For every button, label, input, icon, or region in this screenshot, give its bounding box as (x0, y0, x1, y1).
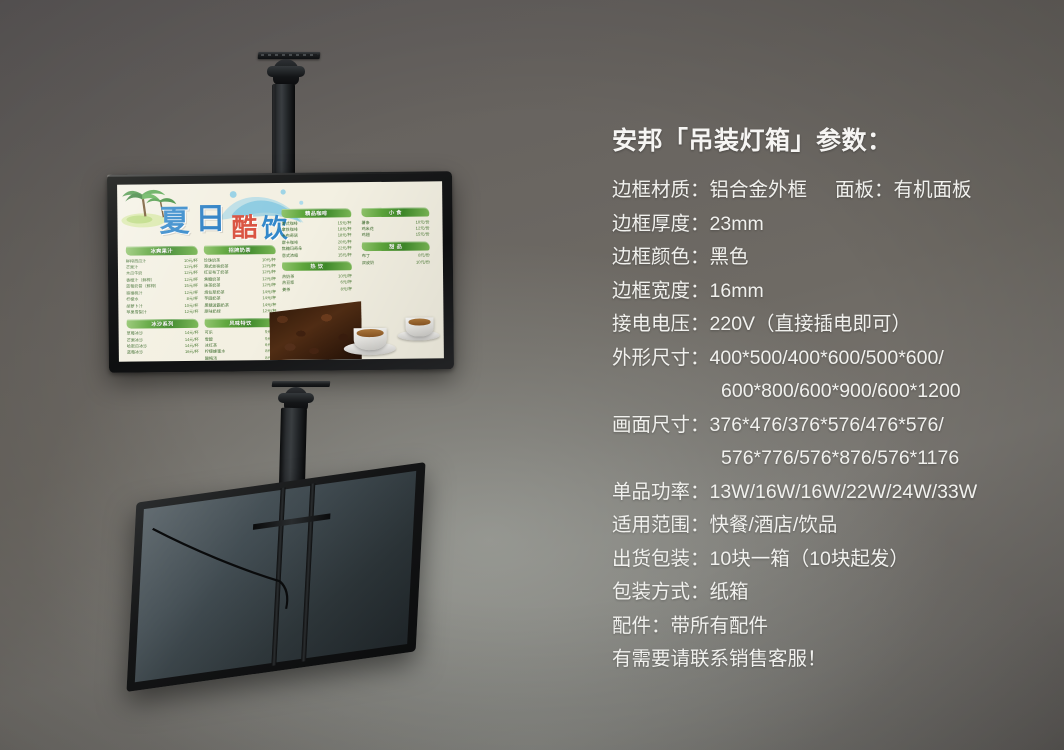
spec-label: 出货包装： (612, 550, 710, 570)
product-photo: 夏 日 酷 饮 冰爽果汁鲜榨西瓜汁10元/杯芒果汁12元/杯木瓜牛奶12元/杯香… (0, 0, 640, 750)
spec-footer-note: 有需要请联系销售客服！ (612, 650, 1042, 670)
spec-title: 安邦「吊装灯箱」参数： (612, 126, 1042, 156)
menu-section-heading: 热 饮 (282, 261, 353, 271)
menu-section-heading-text: 甜 品 (389, 243, 402, 250)
menu-item-row: 苹果雪梨汁12元/杯 (126, 309, 198, 316)
menu-item-name: 原味奶绿 (204, 309, 220, 316)
menu-item-price: 15元/杯 (334, 252, 352, 259)
menu-section-heading-text: 冰沙系列 (151, 320, 173, 327)
menu-item-row: 蓝莓冰沙16元/杯 (127, 349, 199, 356)
menu-section: 冰爽果汁鲜榨西瓜汁10元/杯芒果汁12元/杯木瓜牛奶12元/杯香橙汁（鲜榨）12… (126, 246, 199, 316)
spec-line: 出货包装：10块一箱（10块起发） (612, 550, 1042, 570)
spec-value: 铝合金外框 (710, 181, 808, 201)
menu-section-heading: 冰爽果汁 (125, 246, 198, 256)
menu-section: 热 饮热奶茶10元/杯热豆浆6元/杯姜茶8元/杯 (282, 261, 352, 293)
menu-column-2: 招牌奶茶珍珠奶茶10元/杯港式丝袜奶茶12元/杯红豆布丁奶茶12元/杯焦糖奶茶1… (204, 245, 277, 362)
spec-value: 快餐/酒店/饮品 (710, 516, 838, 536)
spec-line: 接电电压：220V（直接插电即可） (612, 315, 1042, 335)
menu-item-price: 10元/份 (412, 259, 430, 266)
menu-section-heading: 风味特饮 (204, 318, 277, 328)
mount-pole-top (272, 84, 295, 182)
menu-item-row: 原味奶绿12元/杯 (204, 308, 276, 315)
spec-panel: 安邦「吊装灯箱」参数： 边框材质：铝合金外框面板：有机面板边框厚度：23mm边框… (612, 126, 1042, 684)
menu-item-price: 12元/杯 (180, 309, 198, 316)
menu-section-heading: 甜 品 (361, 241, 430, 251)
menu-item-row: 双皮奶10元/份 (362, 259, 430, 266)
spec-line: 画面尺寸：376*476/376*576/476*576/ (612, 416, 1042, 436)
spec-label-secondary: 面板： (835, 181, 894, 201)
spec-line: 边框宽度：16mm (612, 282, 1042, 302)
power-cable (126, 462, 425, 692)
menu-column-4: 小 食薯条10元/份鸡米花12元/份鸡翅15元/份 甜 品布丁8元/份双皮奶10… (361, 207, 430, 269)
menu-item-row: 意式浓缩15元/杯 (282, 252, 352, 259)
menu-section-heading: 精品咖啡 (281, 208, 352, 218)
spec-label: 包装方式： (612, 583, 710, 603)
coffee-cup-main (354, 328, 387, 350)
menu-section: 冰沙系列草莓冰沙14元/杯芒果冰沙14元/杯哈密瓜冰沙14元/杯蓝莓冰沙16元/… (126, 318, 198, 356)
menu-section-heading-text: 风味特饮 (229, 319, 251, 326)
menu-item-price: 16元/杯 (181, 349, 199, 356)
spec-label: 边框厚度： (612, 215, 710, 235)
spec-label: 外形尺寸： (612, 349, 710, 369)
spec-line: 单品功率：13W/16W/16W/22W/24W/33W (612, 483, 1042, 503)
menu-title-char-1: 夏 (159, 196, 189, 240)
menu-item-row: 鸡翅15元/份 (362, 232, 430, 239)
spec-value: 220V（直接插电即可） (710, 315, 912, 335)
spec-line: 边框颜色：黑色 (612, 248, 1042, 268)
menu-column-3: 精品咖啡美式咖啡15元/杯拿铁咖啡18元/杯卡布奇诺18元/杯摩卡咖啡20元/杯… (281, 208, 352, 296)
menu-section: 甜 品布丁8元/份双皮奶10元/份 (362, 241, 430, 266)
spec-value: 黑色 (710, 248, 749, 268)
menu-panel: 夏 日 酷 饮 冰爽果汁鲜榨西瓜汁10元/杯芒果汁12元/杯木瓜牛奶12元/杯香… (117, 181, 444, 361)
spec-value: 23mm (710, 215, 764, 235)
menu-title-char-3: 酷 (231, 207, 257, 244)
menu-column-1: 冰爽果汁鲜榨西瓜汁10元/杯芒果汁12元/杯木瓜牛奶12元/杯香橙汁（鲜榨）12… (126, 246, 199, 360)
spec-line: 配件：带所有配件 (612, 617, 1042, 637)
spec-label: 边框颜色： (612, 248, 710, 268)
spec-footer-text: 有需要请联系销售客服！ (612, 650, 827, 670)
menu-section-heading-text: 招牌奶茶 (229, 246, 251, 253)
spec-label: 接电电压： (612, 315, 710, 335)
spec-label: 画面尺寸： (612, 416, 710, 436)
menu-section-heading-text: 精品咖啡 (305, 210, 327, 217)
menu-section: 小 食薯条10元/份鸡米花12元/份鸡翅15元/份 (361, 207, 429, 239)
menu-section-heading: 冰沙系列 (126, 318, 199, 328)
menu-section-heading-text: 热 饮 (310, 263, 323, 270)
menu-section-heading-text: 冰爽果汁 (151, 247, 173, 254)
spec-value: 带所有配件 (671, 617, 769, 637)
spec-line-continuation: 600*800/600*900/600*1200 (612, 382, 1042, 402)
spec-value: 纸箱 (710, 583, 749, 603)
menu-item-price: 15元/份 (412, 232, 430, 239)
spec-label: 配件： (612, 617, 671, 637)
spec-line: 边框厚度：23mm (612, 215, 1042, 235)
menu-item-name: 姜茶 (282, 287, 290, 294)
spec-label: 单品功率： (612, 483, 710, 503)
spec-value: 600*800/600*900/600*1200 (721, 382, 961, 402)
spec-label: 适用范围： (612, 516, 710, 536)
lightbox-back-unit (126, 462, 425, 692)
spec-value-secondary: 有机面板 (894, 181, 972, 201)
mount-plate-middle-icon (272, 381, 331, 387)
spec-line-continuation: 576*776/576*876/576*1176 (612, 449, 1042, 469)
coffee-crema (357, 329, 383, 337)
spec-value: 10块一箱（10块起发） (710, 550, 909, 570)
ceiling-mount-plate-icon (258, 52, 321, 59)
menu-item-price: 8元/杯 (337, 286, 353, 293)
spec-label: 边框材质： (612, 181, 710, 201)
menu-item-name: 蓝莓冰沙 (127, 350, 143, 357)
menu-section-heading: 小 食 (361, 207, 430, 217)
coffee-crema-back (408, 319, 430, 326)
menu-section: 精品咖啡美式咖啡15元/杯拿铁咖啡18元/杯卡布奇诺18元/杯摩卡咖啡20元/杯… (281, 208, 352, 259)
menu-section-heading-text: 小 食 (389, 209, 402, 216)
spec-line: 适用范围：快餐/酒店/饮品 (612, 516, 1042, 536)
spec-label: 边框宽度： (612, 282, 710, 302)
spec-value: 376*476/376*576/476*576/ (710, 416, 944, 436)
menu-item-name: 双皮奶 (362, 260, 374, 267)
spec-line: 外形尺寸：400*500/400*600/500*600/ (612, 349, 1042, 369)
spec-value: 13W/16W/16W/22W/24W/33W (710, 483, 978, 503)
spec-line: 包装方式：纸箱 (612, 583, 1042, 603)
menu-item-name: 意式浓缩 (282, 253, 298, 260)
spec-line-list: 边框材质：铝合金外框面板：有机面板边框厚度：23mm边框颜色：黑色边框宽度：16… (612, 181, 1042, 670)
menu-section: 招牌奶茶珍珠奶茶10元/杯港式丝袜奶茶12元/杯红豆布丁奶茶12元/杯焦糖奶茶1… (204, 245, 277, 315)
menu-item-row: 姜茶8元/杯 (282, 286, 352, 293)
spec-value: 576*776/576*876/576*1176 (721, 449, 959, 469)
menu-item-name: 鸡翅 (362, 232, 370, 239)
spec-value: 16mm (710, 282, 764, 302)
coffee-photo (269, 296, 444, 360)
menu-section-heading: 招牌奶茶 (203, 245, 276, 255)
spec-value: 400*500/400*600/500*600/ (710, 349, 944, 369)
lightbox-front-unit: 夏 日 酷 饮 冰爽果汁鲜榨西瓜汁10元/杯芒果汁12元/杯木瓜牛奶12元/杯香… (107, 171, 454, 373)
spec-line: 边框材质：铝合金外框面板：有机面板 (612, 181, 1042, 201)
swivel-joint-top-icon (273, 59, 299, 85)
menu-item-name: 苹果雪梨汁 (126, 310, 147, 317)
menu-section: 风味特饮可乐5元/杯雪碧5元/杯冰红茶6元/杯柠檬蜂蜜水8元/杯酸梅汤8元/杯 (204, 318, 276, 362)
product-spec-image: 夏 日 酷 饮 冰爽果汁鲜榨西瓜汁10元/杯芒果汁12元/杯木瓜牛奶12元/杯香… (0, 0, 1064, 750)
coffee-cup-back (405, 317, 433, 336)
menu-title-char-2: 日 (195, 194, 225, 238)
